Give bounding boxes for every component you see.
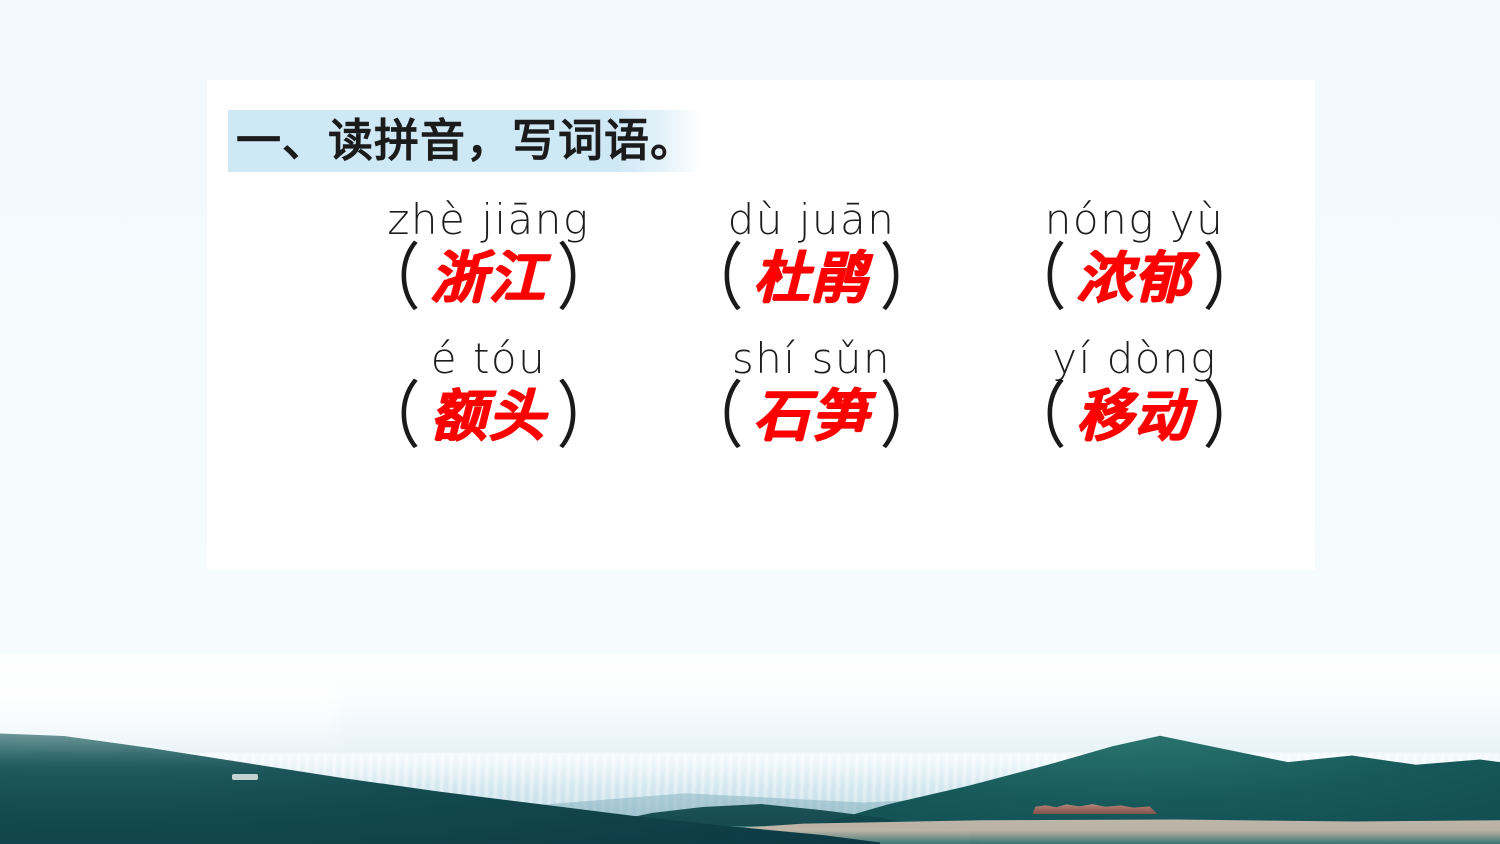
answer-line: （ 杜鹃 ） (650, 247, 973, 309)
open-paren: （ (358, 380, 420, 453)
answer-line: （ 额头 ） (327, 385, 650, 447)
answer-line: （ 石笋 ） (650, 385, 973, 447)
answer-line: （ 浙江 ） (327, 247, 650, 309)
landscape-photo (0, 654, 1500, 844)
answer-text[interactable]: 杜鹃 (744, 250, 880, 306)
slide-canvas: 一、读拼音，写词语。 zhè jiāng （ 浙江 ） dù juān （ (0, 0, 1500, 844)
open-paren: （ (1004, 380, 1066, 453)
close-paren: ） (557, 380, 619, 453)
open-paren: （ (681, 241, 743, 314)
question-cell: shí sǔn （ 石笋 ） (650, 331, 973, 448)
close-paren: ） (880, 241, 942, 314)
open-paren: （ (681, 380, 743, 453)
open-paren: （ (1004, 241, 1066, 314)
question-cell: zhè jiāng （ 浙江 ） (327, 192, 650, 309)
question-cell: dù juān （ 杜鹃 ） (650, 192, 973, 309)
question-cell: nóng yù （ 浓郁 ） (973, 192, 1296, 309)
answer-text[interactable]: 浙江 (421, 250, 557, 306)
exercise-title: 一、读拼音，写词语。 (228, 110, 700, 172)
question-row: é tóu （ 额头 ） shí sǔn （ 石笋 ） (327, 331, 1297, 448)
answer-line: （ 移动 ） (973, 385, 1296, 447)
worksheet-panel: 一、读拼音，写词语。 zhè jiāng （ 浙江 ） dù juān （ (207, 80, 1315, 570)
answer-text[interactable]: 石笋 (744, 388, 880, 444)
close-paren: ） (880, 380, 942, 453)
answer-text[interactable]: 额头 (421, 388, 557, 444)
white-hut (232, 774, 258, 780)
mountain-haze (0, 684, 340, 764)
exercise-grid: zhè jiāng （ 浙江 ） dù juān （ 杜鹃 ） (327, 192, 1297, 447)
exercise-title-row: 一、读拼音，写词语。 (228, 110, 700, 172)
close-paren: ） (557, 241, 619, 314)
open-paren: （ (358, 241, 420, 314)
question-cell: yí dòng （ 移动 ） (973, 331, 1296, 448)
question-cell: é tóu （ 额头 ） (327, 331, 650, 448)
question-row: zhè jiāng （ 浙江 ） dù juān （ 杜鹃 ） (327, 192, 1297, 309)
close-paren: ） (1203, 241, 1265, 314)
answer-line: （ 浓郁 ） (973, 247, 1296, 309)
answer-text[interactable]: 移动 (1067, 388, 1203, 444)
answer-text[interactable]: 浓郁 (1067, 250, 1203, 306)
close-paren: ） (1203, 380, 1265, 453)
